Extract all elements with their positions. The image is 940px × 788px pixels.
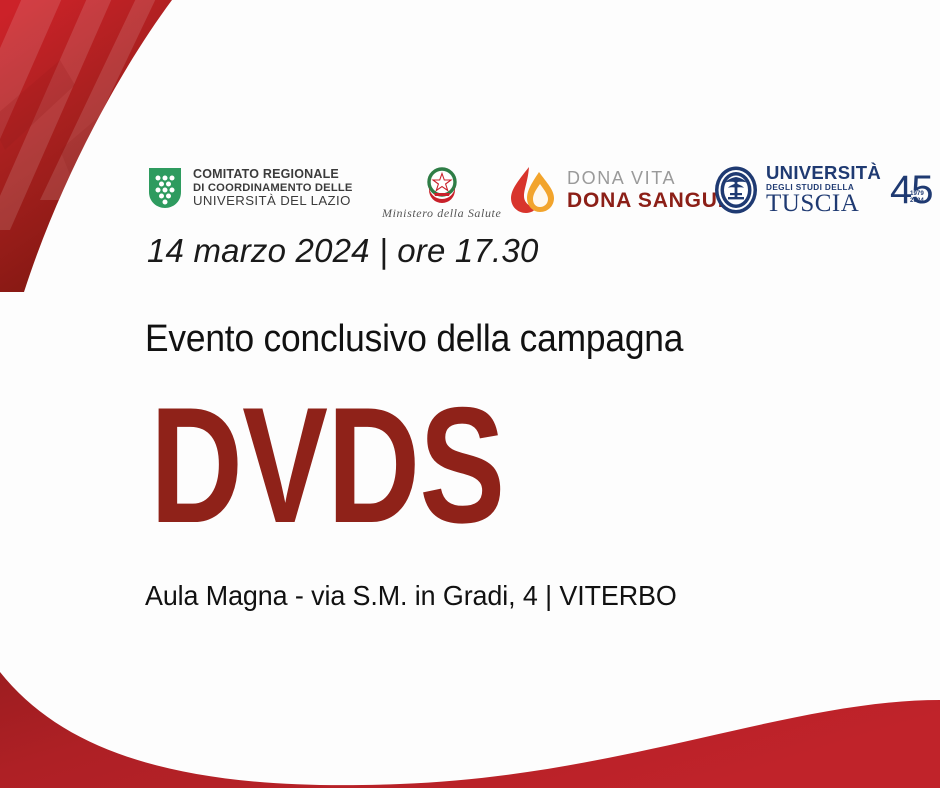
anniversary-year-to: 2024: [910, 197, 924, 204]
logo-dona-vita-dona-sangue: DONA VITA DONA SANGUE: [509, 164, 733, 216]
tuscia-line-3: TUSCIA: [766, 191, 881, 216]
event-date-time: 14 marzo 2024 | ore 17.30: [147, 232, 539, 270]
green-shield-icon: [147, 166, 183, 210]
comitato-line-3: UNIVERSITÀ DEL LAZIO: [193, 194, 353, 208]
flame-droplet-icon: [509, 164, 557, 216]
event-subtitle: Evento conclusivo della campagna: [145, 318, 683, 361]
comitato-line-1: COMITATO REGIONALE: [193, 168, 353, 182]
italian-republic-emblem-icon: [422, 164, 462, 204]
comitato-regionale-text: COMITATO REGIONALE DI COORDINAMENTO DELL…: [193, 168, 353, 208]
logo-universita-tuscia: UNIVERSITÀ DEGLI STUDI DELLA TUSCIA 45 1…: [713, 164, 940, 216]
tuscia-line-1: UNIVERSITÀ: [766, 164, 881, 183]
event-venue: Aula Magna - via S.M. in Gradi, 4 | VITE…: [145, 580, 677, 612]
tuscia-seal-icon: [713, 165, 759, 215]
logo-strip: COMITATO REGIONALE DI COORDINAMENTO DELL…: [0, 78, 940, 150]
ministero-salute-caption: Ministero della Salute: [382, 206, 501, 221]
dvds-logo-line-1: DONA VITA: [567, 169, 733, 187]
dona-vita-dona-sangue-text: DONA VITA DONA SANGUE: [567, 169, 733, 211]
anniversary-year-from: 1979: [910, 190, 924, 197]
dvds-logo-line-2: DONA SANGUE: [567, 190, 733, 211]
universita-tuscia-text: UNIVERSITÀ DEGLI STUDI DELLA TUSCIA: [766, 164, 881, 216]
wave-shape-bottom: [0, 672, 940, 788]
logo-comitato-regionale: COMITATO REGIONALE DI COORDINAMENTO DELL…: [147, 166, 353, 210]
comitato-line-2: DI COORDINAMENTO DELLE: [193, 182, 353, 194]
event-poster: COMITATO REGIONALE DI COORDINAMENTO DELL…: [0, 0, 940, 788]
anniversary-45-icon: 45 1979 2024: [889, 165, 940, 215]
logo-ministero-salute: Ministero della Salute: [382, 164, 501, 221]
campaign-acronym: DVDS: [150, 383, 504, 548]
